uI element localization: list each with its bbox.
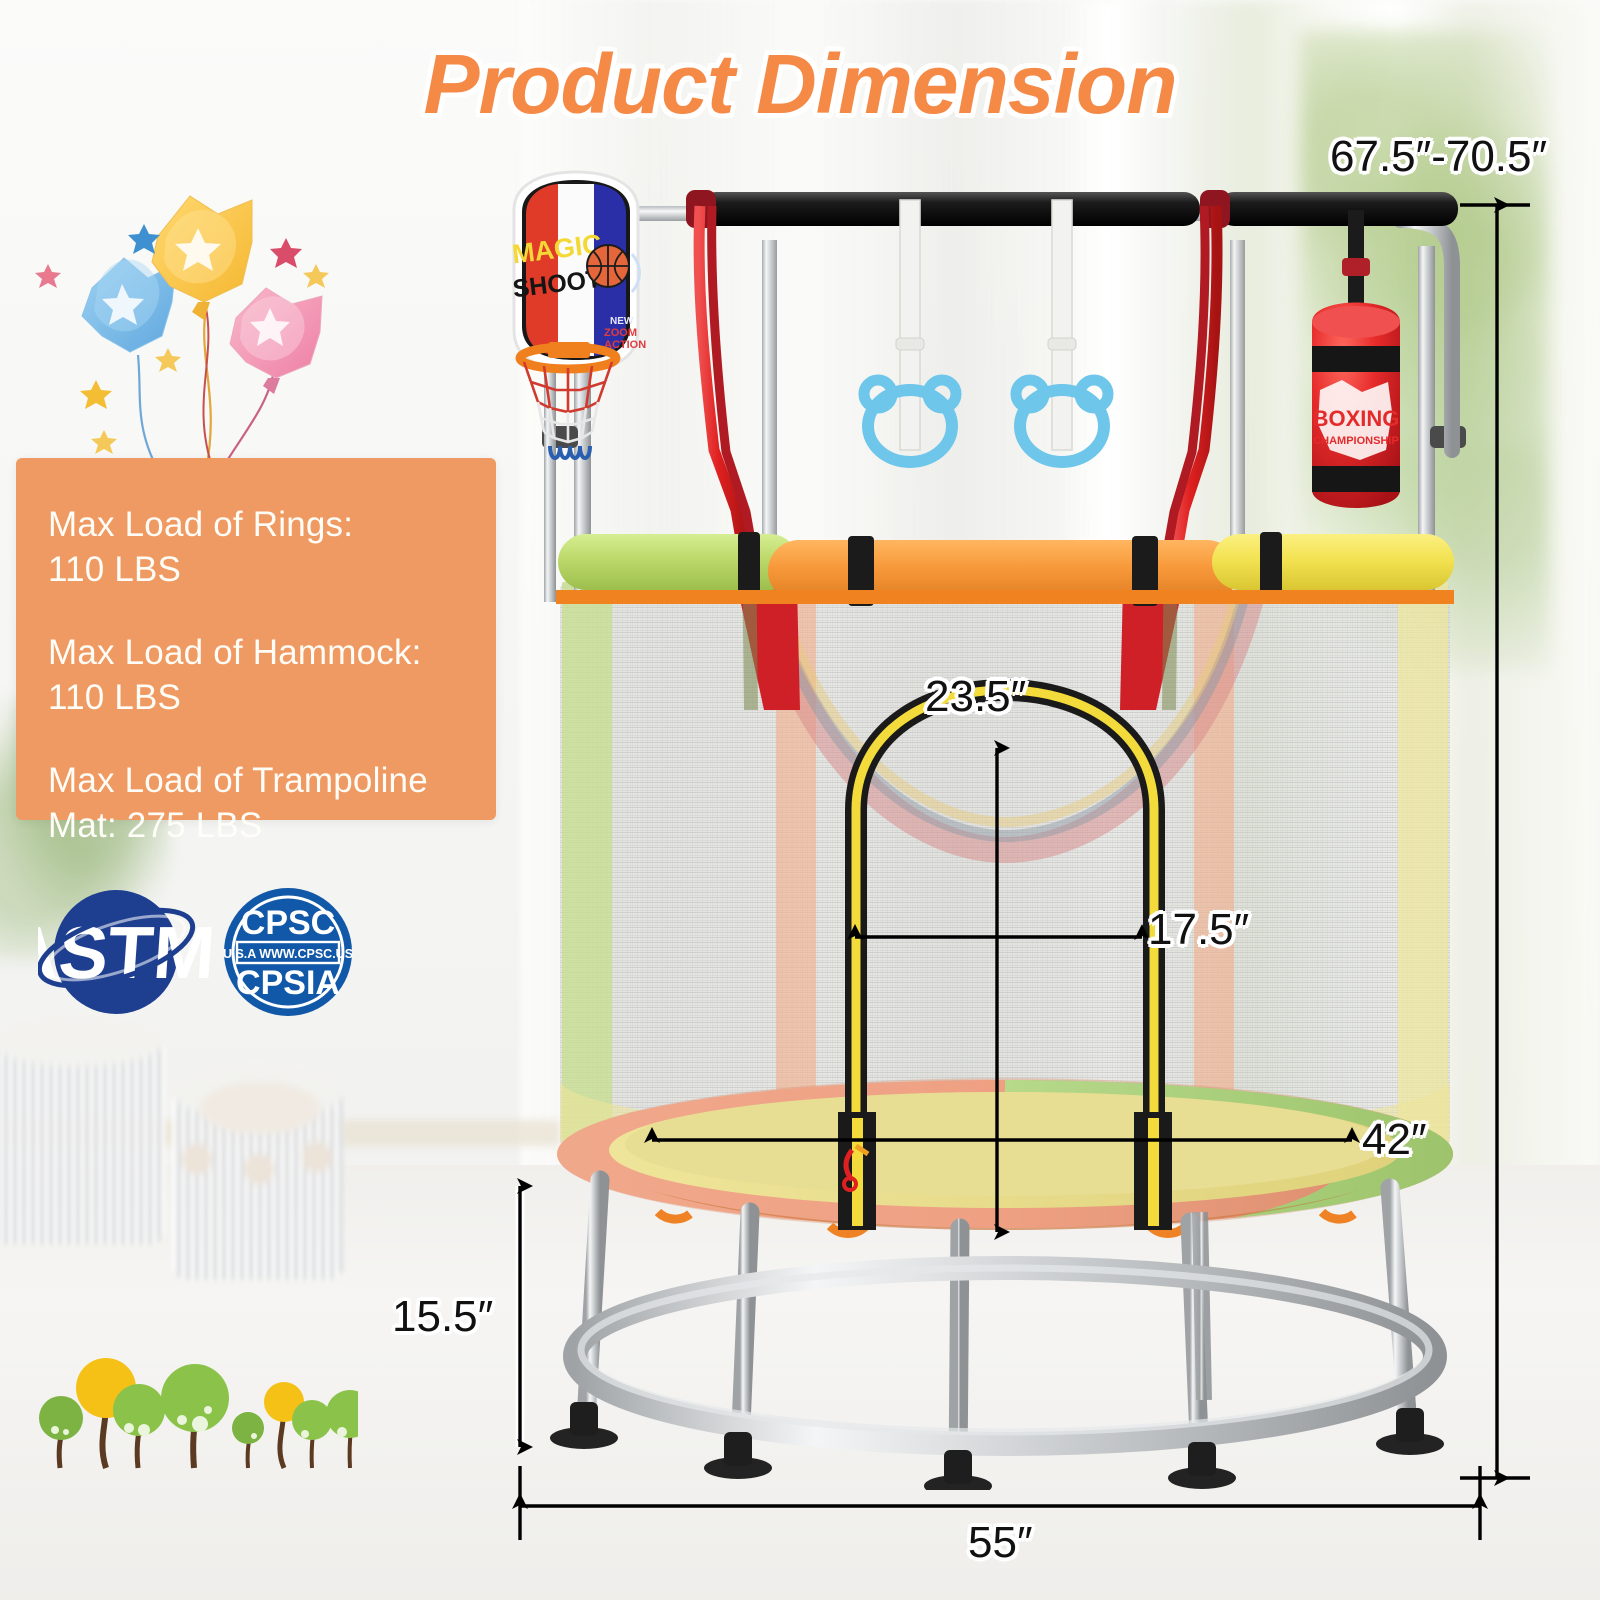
- max-load-info-box: Max Load of Rings: 110 LBS Max Load of H…: [16, 458, 496, 820]
- info-hammock-label: Max Load of Hammock:: [48, 630, 496, 675]
- gym-rings: [864, 200, 1108, 462]
- astm-icon: ASTM: [38, 890, 218, 1014]
- top-foam-padding: [556, 532, 1454, 606]
- boxing-bag-line1: BOXING: [1313, 406, 1400, 431]
- boxing-bag: BOXING CHAMPIONSHIP: [1312, 210, 1400, 508]
- dimension-label-overall-width: 55″: [968, 1518, 1033, 1568]
- info-rings-label: Max Load of Rings:: [48, 502, 496, 547]
- info-item-hammock: Max Load of Hammock: 110 LBS: [48, 630, 496, 720]
- backboard-tag1: NEW: [610, 316, 634, 327]
- info-mat-value: Mat: 275 LBS: [48, 803, 496, 848]
- background-basket-cloth: [200, 1082, 320, 1134]
- boxing-bag-line2: CHAMPIONSHIP: [1313, 435, 1399, 447]
- dimension-label-door-width: 17.5″: [1148, 905, 1249, 955]
- trampoline-product-image: MAGIC SHOOT NEW ZOOM ACTION: [500, 150, 1510, 1490]
- infographic-canvas: Product Dimension: [0, 0, 1600, 1600]
- info-mat-label: Max Load of Trampoline: [48, 758, 496, 803]
- dimension-label-mat-diameter: 42″: [1362, 1115, 1427, 1165]
- info-item-mat: Max Load of Trampoline Mat: 275 LBS: [48, 758, 496, 848]
- trampoline-frame-pad: [557, 1078, 1453, 1234]
- base-ring: [575, 1268, 1435, 1444]
- dimension-label-total-height: 67.5″-70.5″: [1330, 132, 1547, 182]
- certification-badges: ASTM CPSC U.S.A WWW.CPSC.US CPSIA: [38, 870, 378, 1030]
- dimension-label-door-height: 23.5″: [925, 672, 1026, 722]
- trees-decoration: [28, 1340, 358, 1470]
- cpsc-line3: CPSIA: [236, 964, 340, 1002]
- dimension-label-leg-height: 15.5″: [392, 1292, 493, 1342]
- info-rings-value: 110 LBS: [48, 547, 496, 592]
- info-item-rings: Max Load of Rings: 110 LBS: [48, 502, 496, 592]
- cpsc-line1: CPSC: [241, 904, 335, 942]
- balloons-decoration: [30, 180, 370, 480]
- page-title: Product Dimension: [0, 36, 1600, 133]
- backboard-tag2: ZOOM: [604, 327, 637, 339]
- background-basket-left: [0, 1040, 165, 1245]
- cpsc-icon: CPSC U.S.A WWW.CPSC.US CPSIA: [223, 888, 353, 1016]
- cpsc-line2: U.S.A WWW.CPSC.US: [223, 947, 353, 961]
- info-hammock-value: 110 LBS: [48, 675, 496, 720]
